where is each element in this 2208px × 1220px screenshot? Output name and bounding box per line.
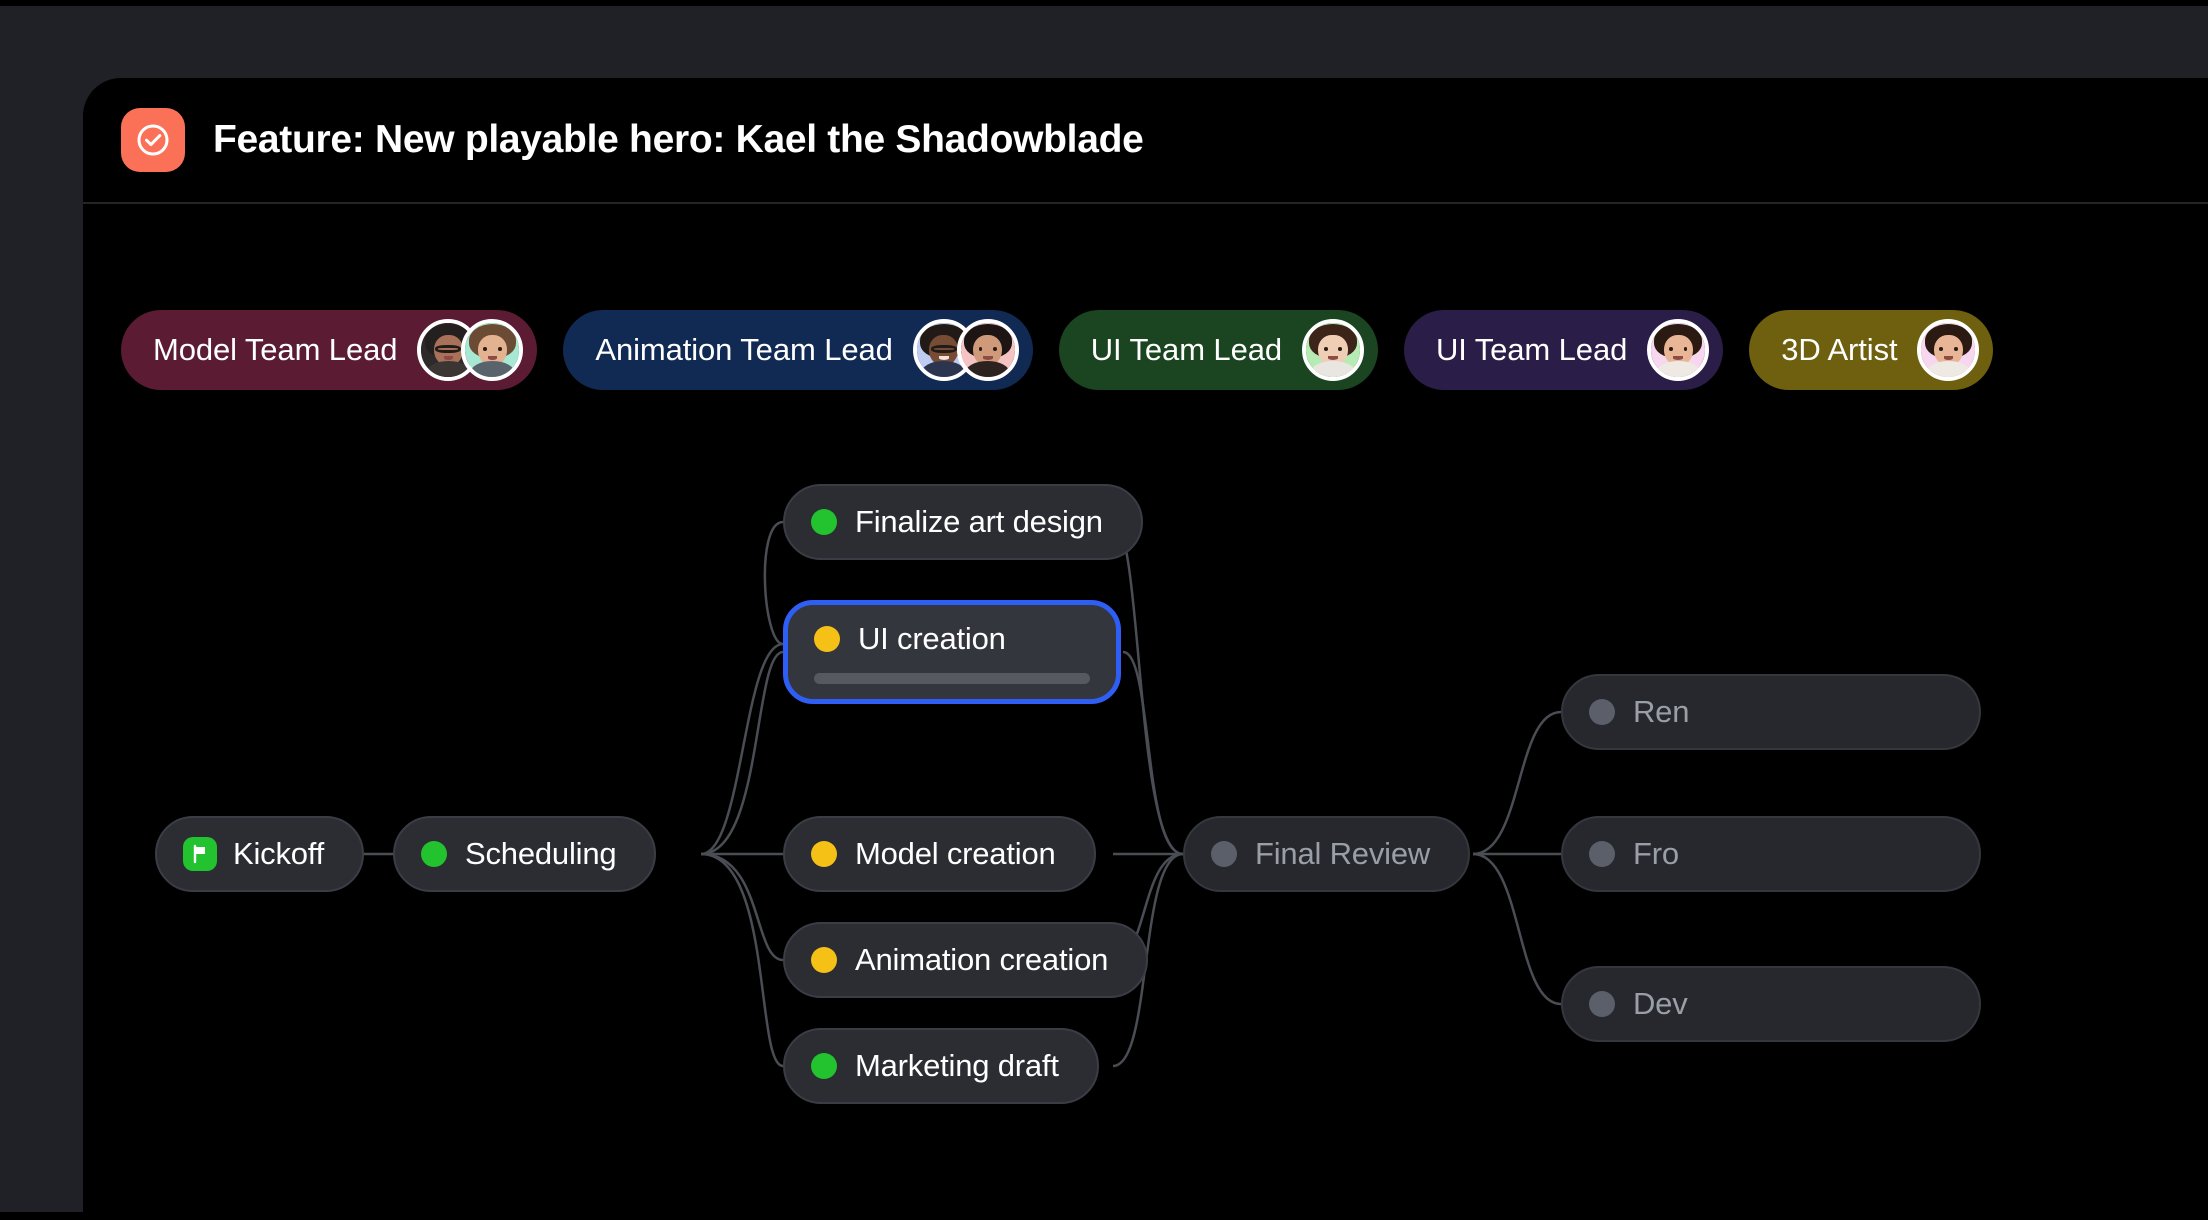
status-dot-done bbox=[421, 841, 447, 867]
edge-finalize-art-final-review bbox=[1113, 522, 1183, 854]
node-header-row: UI creation bbox=[814, 621, 1006, 657]
node-label: Ren bbox=[1633, 694, 1689, 730]
node-label: Animation creation bbox=[855, 942, 1108, 978]
node-label: Scheduling bbox=[465, 836, 616, 872]
flag-icon bbox=[183, 837, 217, 871]
edge-scheduling-ui-creation bbox=[701, 652, 783, 854]
edge-scheduling-marketing-draft bbox=[701, 854, 783, 1066]
status-dot-pending bbox=[1211, 841, 1237, 867]
node-label: Final Review bbox=[1255, 836, 1430, 872]
edge-final-review-dev bbox=[1473, 854, 1561, 1004]
status-dot-in-progress bbox=[811, 841, 837, 867]
node-scheduling[interactable]: Scheduling bbox=[393, 816, 656, 892]
edge-final-review-render bbox=[1473, 712, 1561, 854]
status-dot-in-progress bbox=[811, 947, 837, 973]
edge-scheduling-animation-creation bbox=[701, 854, 783, 960]
node-kickoff[interactable]: Kickoff bbox=[155, 816, 364, 892]
node-label: Finalize art design bbox=[855, 504, 1103, 540]
check-circle-icon bbox=[121, 108, 185, 172]
status-dot-pending bbox=[1589, 991, 1615, 1017]
node-label: Fro bbox=[1633, 836, 1679, 872]
node-label: Kickoff bbox=[233, 836, 324, 872]
progress-bar bbox=[814, 673, 1090, 684]
node-dev[interactable]: Dev bbox=[1561, 966, 1981, 1042]
node-render[interactable]: Ren bbox=[1561, 674, 1981, 750]
status-dot-in-progress bbox=[814, 626, 840, 652]
status-dot-done bbox=[811, 509, 837, 535]
app-root: Feature: New playable hero: Kael the Sha… bbox=[0, 0, 2208, 1220]
edge-ui-creation-final-review bbox=[1123, 652, 1183, 854]
node-label: Model creation bbox=[855, 836, 1056, 872]
board-panel: Feature: New playable hero: Kael the Sha… bbox=[83, 78, 2208, 1220]
node-label: Marketing draft bbox=[855, 1048, 1059, 1084]
edge-scheduling-finalize-art bbox=[701, 522, 783, 854]
status-dot-pending bbox=[1589, 699, 1615, 725]
node-label: UI creation bbox=[858, 621, 1006, 657]
board-header: Feature: New playable hero: Kael the Sha… bbox=[83, 78, 2208, 204]
node-ui-creation[interactable]: UI creation bbox=[783, 600, 1121, 704]
page-title: Feature: New playable hero: Kael the Sha… bbox=[213, 118, 1144, 162]
node-model-creation[interactable]: Model creation bbox=[783, 816, 1096, 892]
status-dot-done bbox=[811, 1053, 837, 1079]
node-final-review[interactable]: Final Review bbox=[1183, 816, 1470, 892]
node-finalize-art-design[interactable]: Finalize art design bbox=[783, 484, 1143, 560]
node-frontend[interactable]: Fro bbox=[1561, 816, 1981, 892]
workflow-graph[interactable]: Kickoff Scheduling Finalize art design U… bbox=[83, 204, 2208, 1220]
node-marketing-draft[interactable]: Marketing draft bbox=[783, 1028, 1099, 1104]
node-label: Dev bbox=[1633, 986, 1688, 1022]
status-dot-pending bbox=[1589, 841, 1615, 867]
node-animation-creation[interactable]: Animation creation bbox=[783, 922, 1148, 998]
